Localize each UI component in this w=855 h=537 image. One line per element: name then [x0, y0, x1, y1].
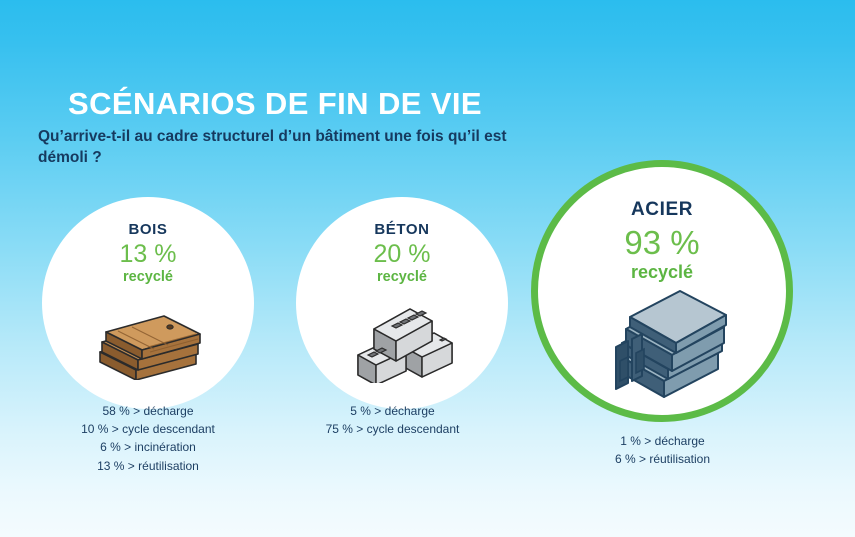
material-name-beton: BÉTON	[374, 221, 429, 238]
stats-list-beton: 5 % > décharge 75 % > cycle descendant	[300, 402, 485, 438]
material-percent-beton: 20 %	[374, 241, 431, 269]
material-percent-bois: 13 %	[120, 241, 177, 269]
stat-item: 6 % > réutilisation	[575, 450, 750, 468]
stat-item: 6 % > incinération	[48, 438, 248, 456]
icon-container-acier	[538, 283, 786, 415]
stats-list-acier: 1 % > décharge 6 % > réutilisation	[575, 432, 750, 468]
icon-container-bois	[42, 285, 254, 409]
stat-item: 75 % > cycle descendant	[300, 420, 485, 438]
infographic-root: SCÉNARIOS DE FIN DE VIE Qu’arrive-t-il a…	[0, 0, 855, 537]
stat-item: 10 % > cycle descendant	[48, 420, 248, 438]
stat-item: 13 % > réutilisation	[48, 457, 248, 475]
stats-list-bois: 58 % > décharge 10 % > cycle descendant …	[48, 402, 248, 475]
material-circle-bois[interactable]: BOIS 13 % recyclé	[42, 197, 254, 409]
material-recycled-label-bois: recyclé	[123, 270, 173, 286]
stat-item: 1 % > décharge	[575, 432, 750, 450]
material-recycled-label-acier: recyclé	[631, 263, 693, 283]
concrete-blocks-icon	[348, 303, 456, 383]
page-subtitle: Qu’arrive-t-il au cadre structurel d’un …	[38, 127, 508, 168]
material-circle-acier[interactable]: ACIER 93 % recyclé	[531, 160, 793, 422]
wood-planks-icon	[92, 306, 204, 380]
icon-container-beton	[296, 285, 508, 409]
material-name-acier: ACIER	[631, 199, 693, 221]
page-title: SCÉNARIOS DE FIN DE VIE	[68, 86, 482, 122]
steel-beams-icon	[596, 289, 728, 401]
stat-item: 58 % > décharge	[48, 402, 248, 420]
material-recycled-label-beton: recyclé	[377, 270, 427, 286]
material-percent-acier: 93 %	[624, 225, 699, 261]
stat-item: 5 % > décharge	[300, 402, 485, 420]
material-circle-beton[interactable]: BÉTON 20 % recyclé	[296, 197, 508, 409]
material-name-bois: BOIS	[128, 221, 167, 238]
